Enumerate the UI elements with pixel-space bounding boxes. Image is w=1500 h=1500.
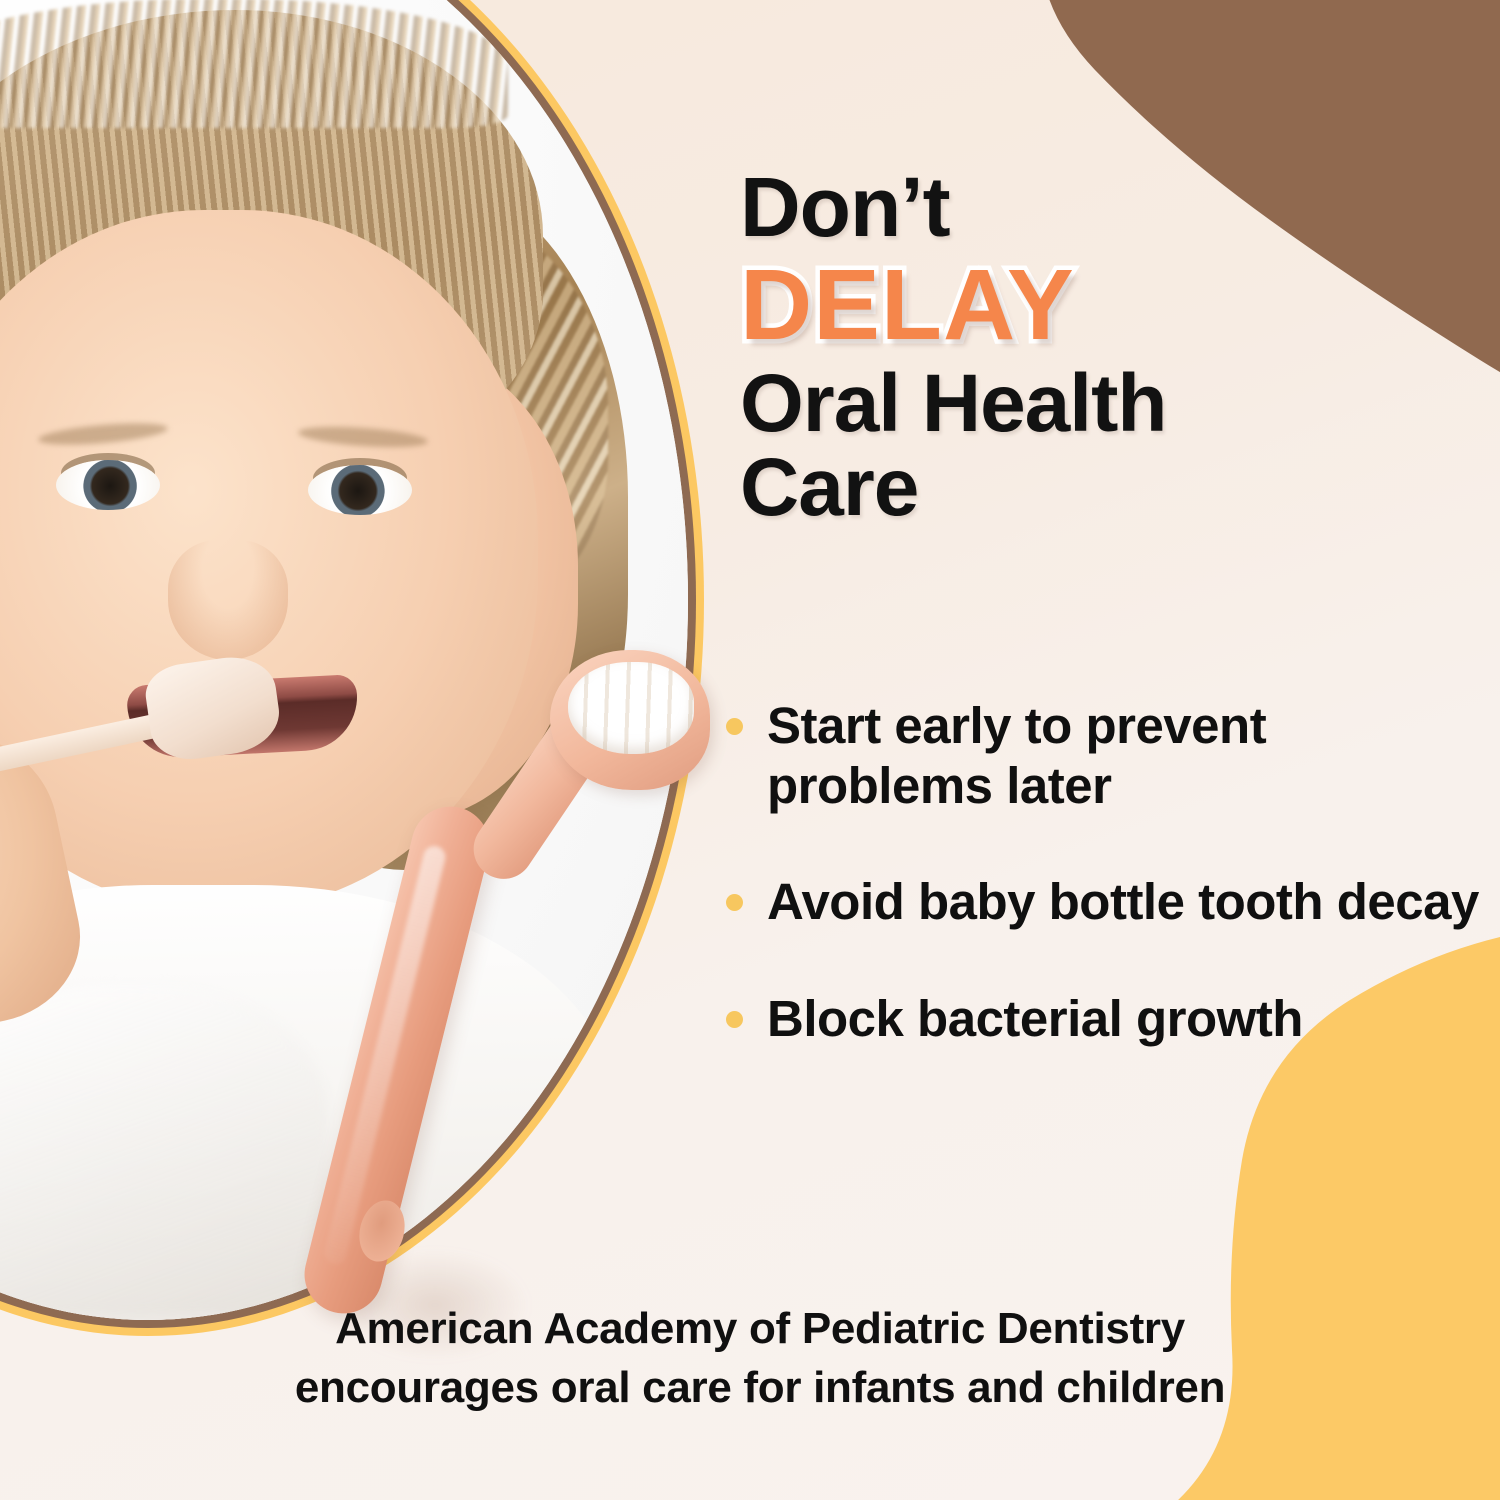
list-item: Start early to prevent problems later [726, 696, 1486, 816]
poster-canvas: Don’t DELAY Oral Health Care Start early… [0, 0, 1500, 1500]
bullet-dot-icon [726, 894, 743, 911]
bullet-dot-icon [726, 718, 743, 735]
headline-line-4: Care [740, 449, 1440, 527]
benefits-list: Start early to prevent problems later Av… [726, 696, 1486, 1105]
bullet-dot-icon [726, 1011, 743, 1028]
bullet-text: Avoid baby bottle tooth decay [767, 872, 1479, 932]
headline-line-3: Oral Health [740, 365, 1440, 443]
list-item: Avoid baby bottle tooth decay [726, 872, 1486, 932]
list-item: Block bacterial growth [726, 989, 1486, 1049]
headline-line-1: Don’t [740, 168, 1440, 248]
toothbrush-bristles [568, 662, 694, 754]
bullet-text: Start early to prevent problems later [767, 696, 1486, 816]
footer-line-1: American Academy of Pediatric Dentistry [120, 1300, 1400, 1359]
baby-eye-right [308, 465, 412, 515]
baby-hair-wisps [0, 0, 508, 128]
footer-line-2: encourages oral care for infants and chi… [120, 1359, 1400, 1418]
baby-shirt-fold [0, 985, 328, 1315]
baby-eye-left [56, 460, 160, 510]
headline-emphasis-delay: DELAY [740, 258, 1440, 353]
baby-nose [168, 540, 288, 660]
footer-caption: American Academy of Pediatric Dentistry … [120, 1300, 1400, 1417]
bullet-text: Block bacterial growth [767, 989, 1303, 1049]
product-toothbrush [300, 640, 720, 1320]
headline-block: Don’t DELAY Oral Health Care [740, 168, 1440, 527]
